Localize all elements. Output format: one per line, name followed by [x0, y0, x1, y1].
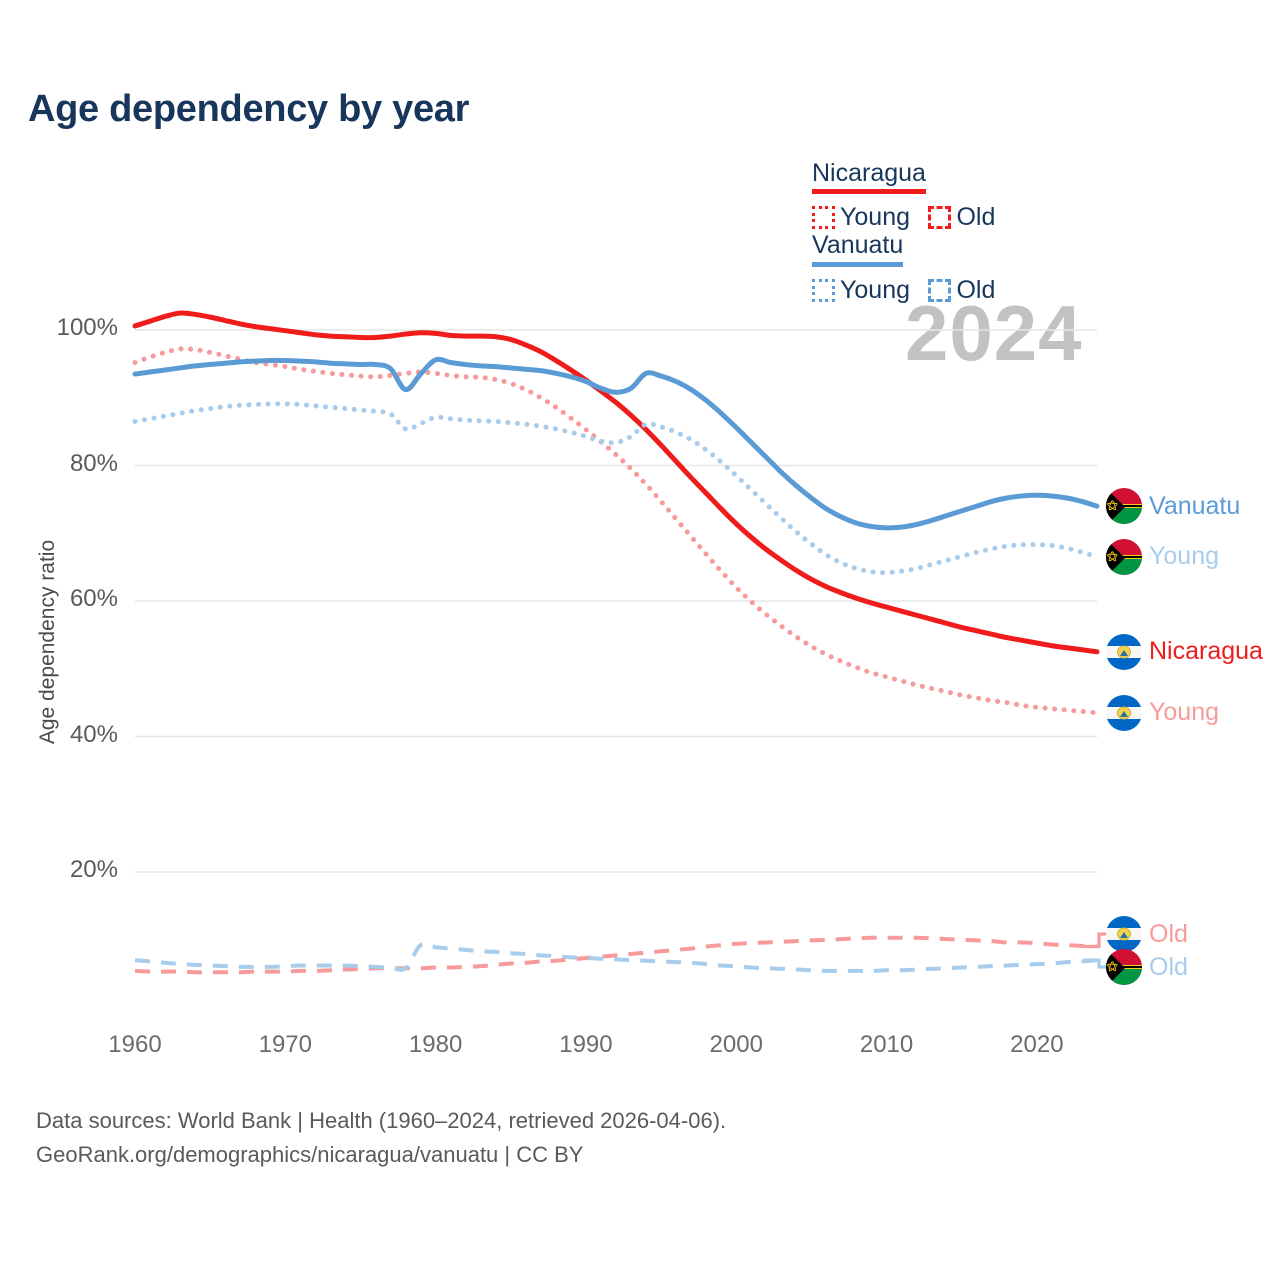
y-tick-label: 60%: [18, 585, 118, 613]
footer-line-2: GeoRank.org/demographics/nicaragua/vanua…: [36, 1138, 726, 1172]
end-label-text: Vanuatu: [1149, 492, 1240, 521]
footer-line-1: Data sources: World Bank | Health (1960–…: [36, 1104, 726, 1138]
end-label-text: Nicaragua: [1149, 637, 1263, 666]
end-label-text: Young: [1149, 542, 1219, 571]
x-tick-label: 2000: [681, 1031, 791, 1059]
end-label-text: Old: [1149, 953, 1188, 982]
series-line-vanuatu: [135, 359, 1097, 528]
y-tick-label: 40%: [18, 721, 118, 749]
nicaragua-flag-icon: [1106, 695, 1142, 731]
y-tick-label: 100%: [18, 314, 118, 342]
nicaragua-flag-icon: [1106, 916, 1142, 952]
gridlines: [135, 330, 1097, 872]
x-tick-label: 1960: [80, 1031, 190, 1059]
x-tick-label: 2020: [982, 1031, 1092, 1059]
x-tick-label: 2010: [832, 1031, 942, 1059]
series-end-label[interactable]: ⚝Vanuatu: [1106, 488, 1240, 524]
old-label-connector: [1085, 960, 1106, 967]
y-tick-label: 80%: [18, 450, 118, 478]
x-tick-label: 1970: [230, 1031, 340, 1059]
vanuatu-flag-icon: ⚝: [1106, 539, 1142, 575]
old-label-connector: [1085, 934, 1106, 947]
y-axis-title: Age dependency ratio: [36, 532, 60, 752]
nicaragua-flag-icon: [1106, 634, 1142, 670]
series-line-vanuatu-old: [135, 944, 1097, 971]
x-tick-label: 1990: [531, 1031, 641, 1059]
x-tick-label: 1980: [381, 1031, 491, 1059]
series-end-label[interactable]: Young: [1106, 695, 1219, 731]
series-end-label[interactable]: ⚝Young: [1106, 539, 1219, 575]
vanuatu-flag-icon: ⚝: [1106, 949, 1142, 985]
series-line-vanuatu-young: [135, 404, 1097, 573]
vanuatu-flag-icon: ⚝: [1106, 488, 1142, 524]
end-label-text: Young: [1149, 698, 1219, 727]
series-end-label[interactable]: Old: [1106, 916, 1188, 952]
series-lines: [135, 313, 1097, 972]
series-end-label[interactable]: Nicaragua: [1106, 634, 1263, 670]
end-label-text: Old: [1149, 920, 1188, 949]
footer-credits: Data sources: World Bank | Health (1960–…: [36, 1104, 726, 1172]
y-tick-label: 20%: [18, 856, 118, 884]
chart-plot-area: [0, 0, 1280, 1280]
series-end-label[interactable]: ⚝Old: [1106, 949, 1188, 985]
